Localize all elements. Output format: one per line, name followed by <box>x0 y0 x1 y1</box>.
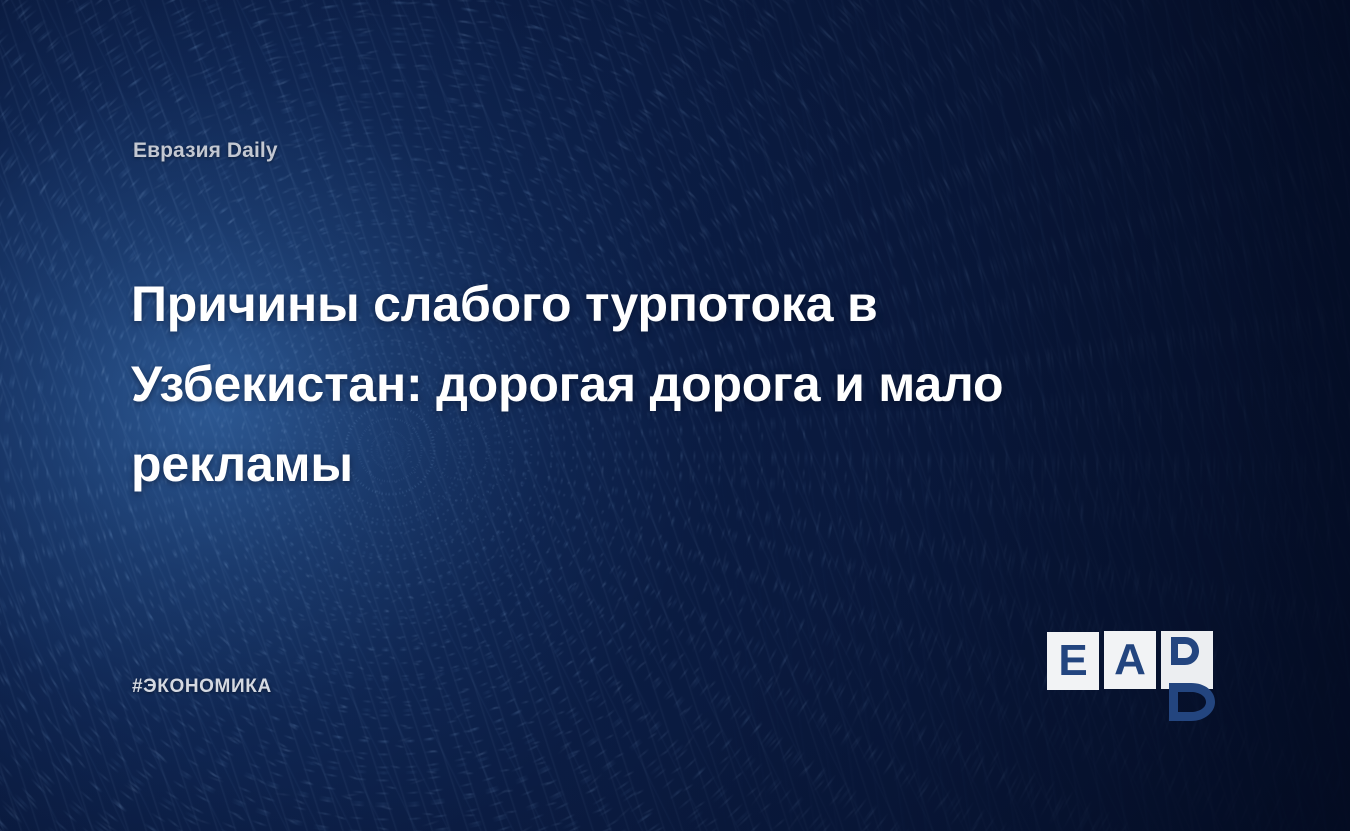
article-share-card: Евразия Daily Причины слабого турпотока … <box>0 0 1350 831</box>
logo-letter-e: E <box>1047 632 1099 690</box>
card-content: Евразия Daily Причины слабого турпотока … <box>0 0 1350 831</box>
logo-letter-a: A <box>1104 631 1156 689</box>
eadaily-logo: E A <box>1047 631 1227 731</box>
logo-d-overlap-icon <box>1161 669 1233 727</box>
category-hashtag: #ЭКОНОМИКА <box>132 676 272 698</box>
headline: Причины слабого турпотока в Узбекистан: … <box>131 264 1161 504</box>
site-name: Евразия Daily <box>133 139 278 163</box>
